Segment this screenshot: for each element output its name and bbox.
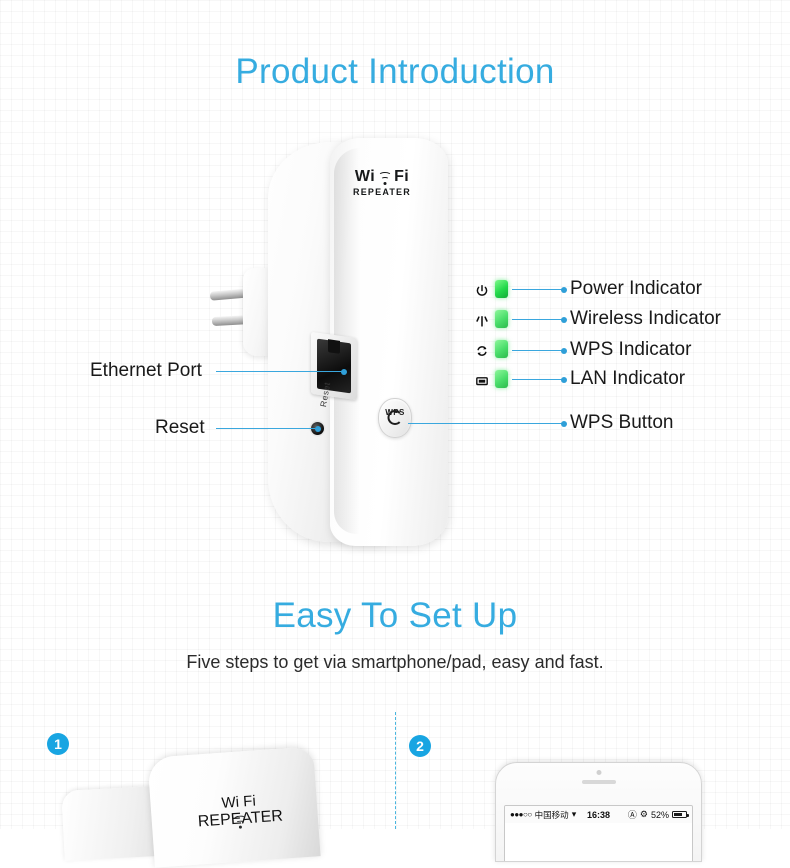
leader-line-power bbox=[512, 289, 564, 290]
power-icon bbox=[475, 284, 489, 298]
leader-line-reset bbox=[216, 428, 318, 429]
phone-camera-icon bbox=[596, 770, 601, 775]
wps-button[interactable]: WPS bbox=[378, 398, 412, 438]
callout-lan-indicator: LAN Indicator bbox=[570, 368, 685, 390]
wireless-icon bbox=[475, 314, 489, 328]
leader-line-lan bbox=[512, 379, 564, 380]
easy-setup-title: Easy To Set Up bbox=[0, 596, 790, 636]
page-title: Product Introduction bbox=[0, 52, 790, 92]
callout-wireless-indicator: Wireless Indicator bbox=[570, 308, 721, 330]
step1-brand-mark: Wi Fi REPEATER bbox=[196, 791, 282, 832]
lan-icon bbox=[475, 374, 489, 388]
wps-button-label: WPS bbox=[379, 408, 411, 417]
step1-device-front: Wi Fi REPEATER bbox=[147, 746, 320, 867]
steps-divider bbox=[395, 712, 396, 829]
led-lamp-wireless bbox=[495, 310, 508, 328]
phone-status-bar: ●●●○○ 中国移动 ▾ 16:38 Ⓐ ⚙ 52% bbox=[505, 806, 692, 823]
battery-icon bbox=[672, 811, 687, 819]
product-illustration: Wi Fi REPEATER Reset WPS bbox=[0, 110, 790, 580]
status-bar-clock: 16:38 bbox=[505, 810, 692, 820]
step2-smartphone: ●●●○○ 中国移动 ▾ 16:38 Ⓐ ⚙ 52% bbox=[495, 762, 702, 862]
phone-screen[interactable]: ●●●○○ 中国移动 ▾ 16:38 Ⓐ ⚙ 52% bbox=[504, 805, 693, 861]
step1-brand-fi: Fi bbox=[243, 792, 257, 810]
leader-line-wps-button bbox=[408, 423, 564, 424]
leader-line-wireless bbox=[512, 319, 564, 320]
step1-brand-wi: Wi bbox=[221, 794, 240, 812]
leader-line-ethernet bbox=[216, 371, 344, 372]
leader-line-wps bbox=[512, 350, 564, 351]
callout-ethernet-port: Ethernet Port bbox=[90, 360, 202, 382]
step-badge-1: 1 bbox=[47, 733, 69, 755]
ethernet-port bbox=[311, 332, 357, 400]
phone-speaker bbox=[582, 780, 616, 784]
brand-subtitle: REPEATER bbox=[336, 187, 428, 197]
page-background: Product Introduction Wi Fi REPEATER Rese… bbox=[0, 0, 790, 829]
device-brand-mark: Wi Fi REPEATER bbox=[336, 168, 428, 197]
callout-reset: Reset bbox=[155, 417, 205, 439]
brand-fi-text: Fi bbox=[394, 168, 409, 186]
callout-wps-indicator: WPS Indicator bbox=[570, 339, 691, 361]
brand-wi-text: Wi bbox=[355, 168, 375, 186]
callout-wps-button: WPS Button bbox=[570, 412, 674, 434]
wifi-signal-icon bbox=[377, 170, 392, 185]
easy-setup-subtitle: Five steps to get via smartphone/pad, ea… bbox=[0, 652, 790, 673]
callout-power-indicator: Power Indicator bbox=[570, 278, 702, 300]
wps-icon bbox=[475, 344, 489, 358]
led-lamp-power bbox=[495, 280, 508, 298]
step-badge-2: 2 bbox=[409, 735, 431, 757]
led-lamp-lan bbox=[495, 370, 508, 388]
led-lamp-wps bbox=[495, 340, 508, 358]
